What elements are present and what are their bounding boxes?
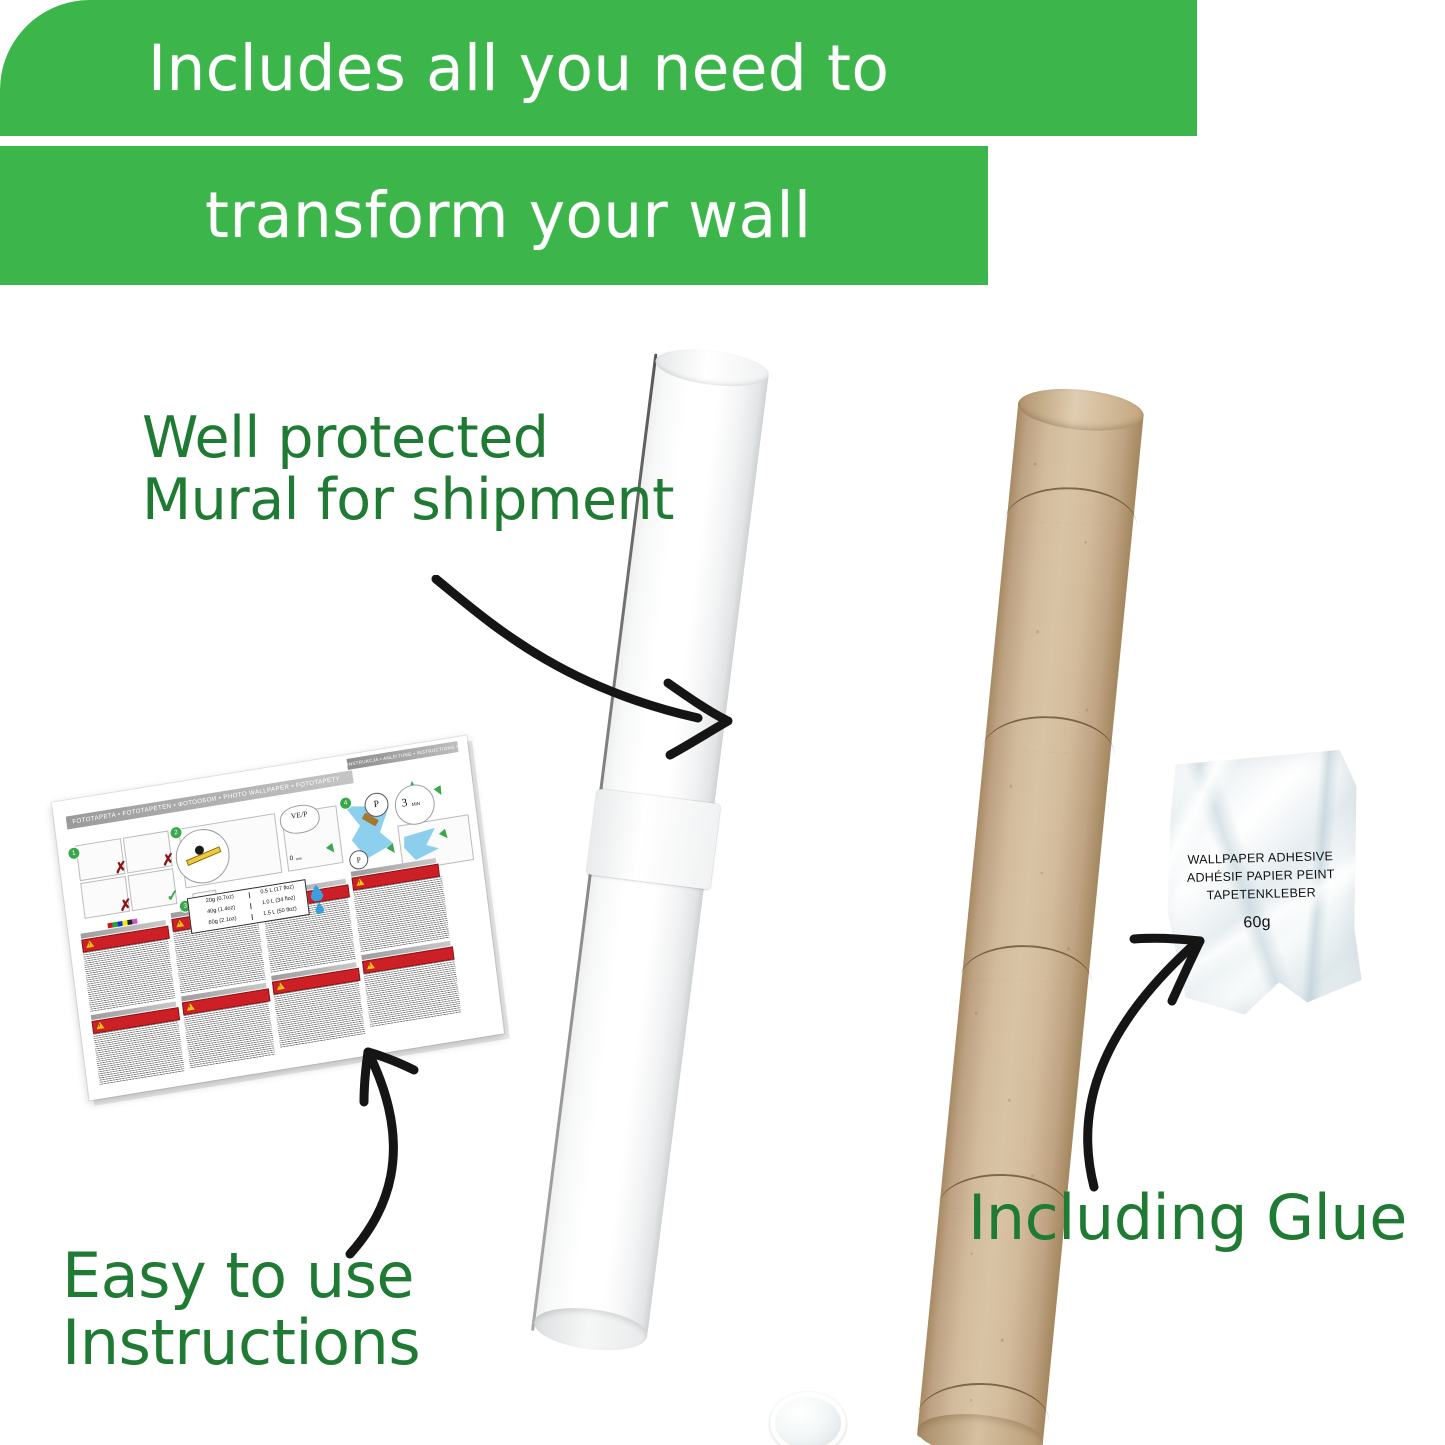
- sheet-header-right: INSTRUKCJA • ANLEITUNG • INSTRUCTIONS • …: [347, 741, 459, 770]
- timer-value: 3: [401, 797, 408, 810]
- wrong-mark: ✗: [161, 852, 175, 869]
- callout-mural-label: Well protected Mural for shipment: [142, 408, 674, 531]
- warning-triangle-icon: [96, 1021, 105, 1029]
- green-arrow-icon: [434, 785, 445, 797]
- warning-triangle-icon: [366, 961, 375, 969]
- mural-roll-band: [587, 789, 721, 890]
- instruction-text-block: [83, 939, 175, 1012]
- header-banner-line2: transform your wall: [0, 146, 988, 285]
- warning-triangle-icon: [186, 1003, 195, 1011]
- kraft-shipping-tube: [907, 381, 1158, 1445]
- header-text-line1: Includes all you need to: [148, 37, 889, 100]
- callout-glue-label: Including Glue: [968, 1185, 1407, 1252]
- wrong-mark: ✗: [114, 860, 128, 877]
- header-text-line2: transform your wall: [205, 184, 811, 247]
- wrong-mark: ✗: [118, 897, 132, 914]
- header-banner-line1: Includes all you need to: [0, 0, 1197, 136]
- infographic-canvas: Includes all you need to transform your …: [0, 0, 1445, 1445]
- warning-triangle-icon: [176, 919, 185, 927]
- callout-instructions-label: Easy to use Instructions: [62, 1243, 420, 1377]
- tube-end-cap: [770, 1392, 846, 1445]
- glue-packet: WALLPAPER ADHESIVE ADHÉSIF PAPIER PEINT …: [1160, 749, 1363, 1016]
- glue-packet-label: WALLPAPER ADHESIVE ADHÉSIF PAPIER PEINT …: [1162, 847, 1359, 905]
- instruction-sheet: INSTRUKCJA • ANLEITUNG • INSTRUCTIONS • …: [52, 736, 504, 1101]
- zero-gap-label: 0: [289, 855, 293, 863]
- instruction-text-block: [353, 876, 450, 952]
- warning-triangle-icon: [276, 982, 285, 990]
- warning-triangle-icon: [85, 940, 94, 948]
- kraft-tube-texture: [917, 400, 1144, 1445]
- warning-triangle-icon: [356, 878, 365, 886]
- right-mark: ✓: [166, 888, 180, 905]
- arrow-to-instructions-icon: [328, 1028, 518, 1264]
